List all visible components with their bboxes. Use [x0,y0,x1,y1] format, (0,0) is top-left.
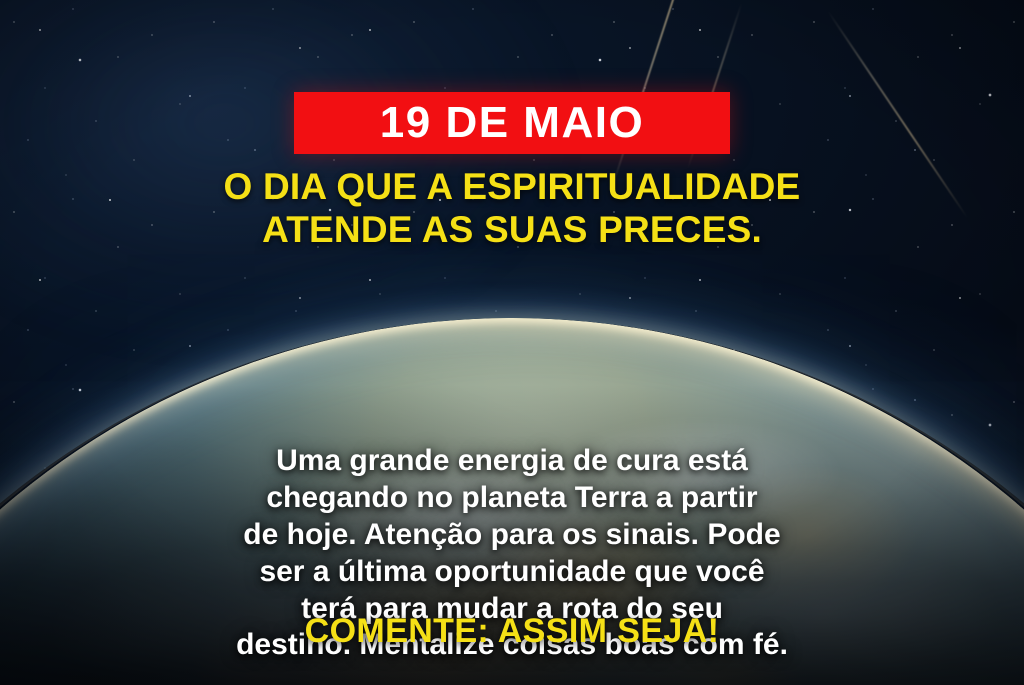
body-line-3: de hoje. Atenção para os sinais. Pode [52,517,972,554]
poster-content: 19 DE MAIO O DIA QUE A ESPIRITUALIDADE A… [0,0,1024,685]
call-to-action-text: COMENTE: ASSIM SEJA! [0,614,1024,648]
body-line-1: Uma grande energia de cura está [52,443,972,480]
date-badge-label: 19 DE MAIO [380,101,644,145]
poster-canvas: 19 DE MAIO O DIA QUE A ESPIRITUALIDADE A… [0,0,1024,685]
body-line-2: chegando no planeta Terra a partir [52,480,972,517]
date-badge: 19 DE MAIO [294,92,730,154]
headline-line-1: O DIA QUE A ESPIRITUALIDADE [44,166,980,209]
headline: O DIA QUE A ESPIRITUALIDADE ATENDE AS SU… [0,166,1024,252]
headline-line-2: ATENDE AS SUAS PRECES. [44,209,980,252]
body-line-4: ser a última oportunidade que você [52,554,972,591]
